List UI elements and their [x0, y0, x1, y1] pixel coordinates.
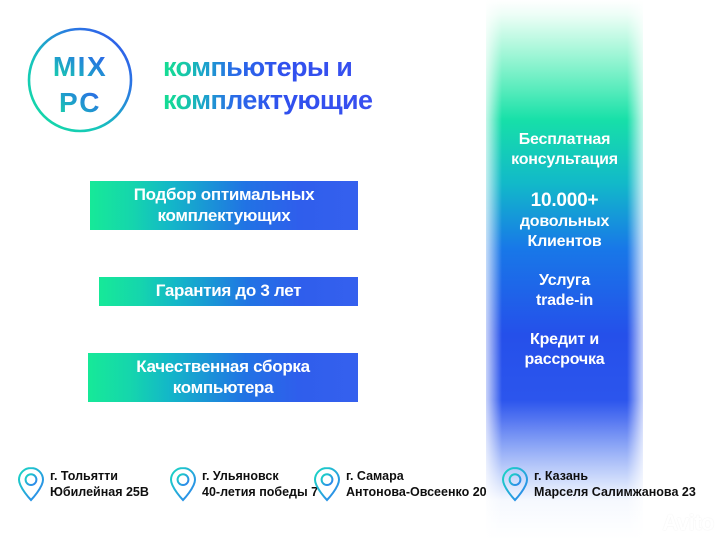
location-city: г. Казань	[534, 468, 696, 485]
map-pin-icon	[168, 465, 198, 503]
avito-watermark: Avito	[635, 510, 714, 536]
page-title: компьютеры и комплектующие	[163, 51, 463, 117]
location-text: г. Самара Антонова-Овсеенко 20	[346, 468, 487, 501]
benefit-line: Услуга	[486, 271, 643, 291]
mixpc-logo: MIX PC	[25, 25, 135, 135]
location-item-kazan: г. Казань Марселя Салимжанова 23	[500, 465, 696, 503]
location-text: г. Ульяновск 40-летия победы 7	[202, 468, 318, 501]
location-street: Юбилейная 25В	[50, 484, 149, 501]
benefit-item-0: Бесплатная консультация	[486, 130, 643, 169]
feature-bar-1: Гарантия до 3 лет	[99, 277, 358, 306]
benefit-line: рассрочка	[486, 350, 643, 370]
logo-text-pc: PC	[59, 87, 101, 118]
feature-bar-2: Качественная сборка компьютера	[88, 353, 358, 402]
feature-bar-0: Подбор оптимальных комплектующих	[90, 181, 358, 230]
location-city: г. Самара	[346, 468, 487, 485]
benefits-panel: Бесплатная консультация 10.000+ довольны…	[486, 130, 643, 389]
location-item-ulyanovsk: г. Ульяновск 40-летия победы 7	[168, 465, 318, 503]
avito-wordmark: Avito	[662, 510, 714, 536]
feature-line-1: Качественная сборка	[136, 357, 310, 376]
headline-line-1: компьютеры и	[163, 51, 463, 84]
benefit-item-1: 10.000+ довольных Клиентов	[486, 189, 643, 251]
location-item-samara: г. Самара Антонова-Овсеенко 20	[312, 465, 487, 503]
feature-line-2: комплектующих	[158, 206, 291, 225]
map-pin-icon	[312, 465, 342, 503]
promo-banner: Бесплатная консультация 10.000+ довольны…	[0, 0, 720, 540]
benefit-line: Бесплатная	[486, 130, 643, 150]
benefit-line: довольных	[486, 212, 643, 232]
location-city: г. Ульяновск	[202, 468, 318, 485]
feature-bar-text: Гарантия до 3 лет	[156, 281, 302, 301]
map-pin-icon	[500, 465, 530, 503]
benefit-item-2: Услуга trade-in	[486, 271, 643, 310]
benefit-line: Клиентов	[486, 232, 643, 252]
feature-bar-text: Подбор оптимальных комплектующих	[134, 185, 315, 226]
map-pin-icon	[16, 465, 46, 503]
location-city: г. Тольятти	[50, 468, 149, 485]
location-text: г. Казань Марселя Салимжанова 23	[534, 468, 696, 501]
location-street: Марселя Салимжанова 23	[534, 484, 696, 501]
feature-line-1: Подбор оптимальных	[134, 185, 315, 204]
benefit-count: 10.000+	[486, 189, 643, 212]
location-item-tolyatti: г. Тольятти Юбилейная 25В	[16, 465, 149, 503]
logo-circle-icon: MIX PC	[25, 25, 135, 135]
location-text: г. Тольятти Юбилейная 25В	[50, 468, 149, 501]
location-street: 40-летия победы 7	[202, 484, 318, 501]
benefit-line: Кредит и	[486, 330, 643, 350]
location-street: Антонова-Овсеенко 20	[346, 484, 487, 501]
feature-line-1: Гарантия до 3 лет	[156, 281, 302, 300]
benefit-line: консультация	[486, 150, 643, 170]
logo-text-mix: MIX	[53, 51, 107, 82]
locations-bar: г. Тольятти Юбилейная 25В г. Ульяновск	[0, 463, 720, 511]
feature-line-2: компьютера	[173, 378, 273, 397]
feature-bar-text: Качественная сборка компьютера	[136, 357, 310, 398]
headline-line-2: комплектующие	[163, 84, 463, 117]
benefit-item-3: Кредит и рассрочка	[486, 330, 643, 369]
benefit-line: trade-in	[486, 291, 643, 311]
